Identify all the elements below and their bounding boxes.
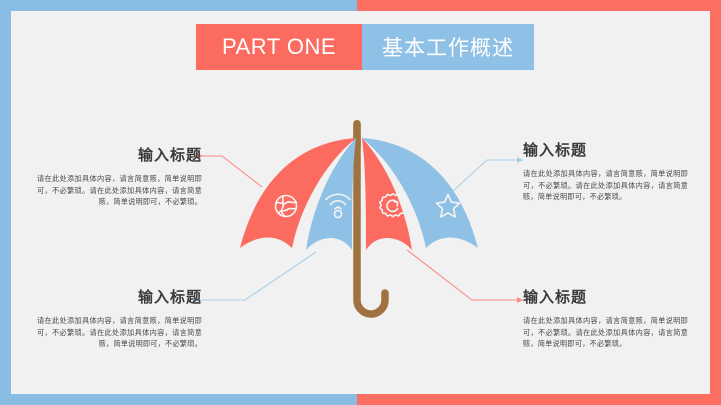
connector-top-right	[452, 160, 518, 192]
callout-top-right-heading: 输入标题	[523, 141, 688, 161]
callout-bottom-left-heading: 输入标题	[37, 288, 202, 308]
callout-bottom-left-body: 请在此处添加具体内容，请言简意赅，简单说明即可，不必繁琐。请在此处添加具体内容，…	[37, 315, 202, 350]
callout-top-right-body: 请在此处添加具体内容，请言简意赅，简单说明即可，不必繁琐。请在此处添加具体内容，…	[523, 168, 688, 203]
slide-canvas: PART ONE 基本工作概述	[0, 0, 721, 405]
connector-bottom-right	[407, 250, 518, 300]
callout-bottom-left: 输入标题 请在此处添加具体内容，请言简意赅，简单说明即可，不必繁琐。请在此处添加…	[37, 288, 202, 350]
callout-top-left: 输入标题 请在此处添加具体内容，请言简意赅，简单说明即可，不必繁琐。请在此处添加…	[37, 146, 202, 208]
callout-bottom-right-heading: 输入标题	[523, 288, 688, 308]
connector-top-left	[198, 156, 262, 187]
callout-bottom-right: 输入标题 请在此处添加具体内容，请言简意赅，简单说明即可，不必繁琐。请在此处添加…	[523, 288, 688, 350]
callout-top-right: 输入标题 请在此处添加具体内容，请言简意赅，简单说明即可，不必繁琐。请在此处添加…	[523, 141, 688, 203]
callout-top-left-body: 请在此处添加具体内容，请言简意赅，简单说明即可，不必繁琐。请在此处添加具体内容，…	[37, 173, 202, 208]
connector-bottom-left	[195, 252, 316, 300]
callout-bottom-right-body: 请在此处添加具体内容，请言简意赅，简单说明即可，不必繁琐。请在此处添加具体内容，…	[523, 315, 688, 350]
callout-top-left-heading: 输入标题	[37, 146, 202, 166]
